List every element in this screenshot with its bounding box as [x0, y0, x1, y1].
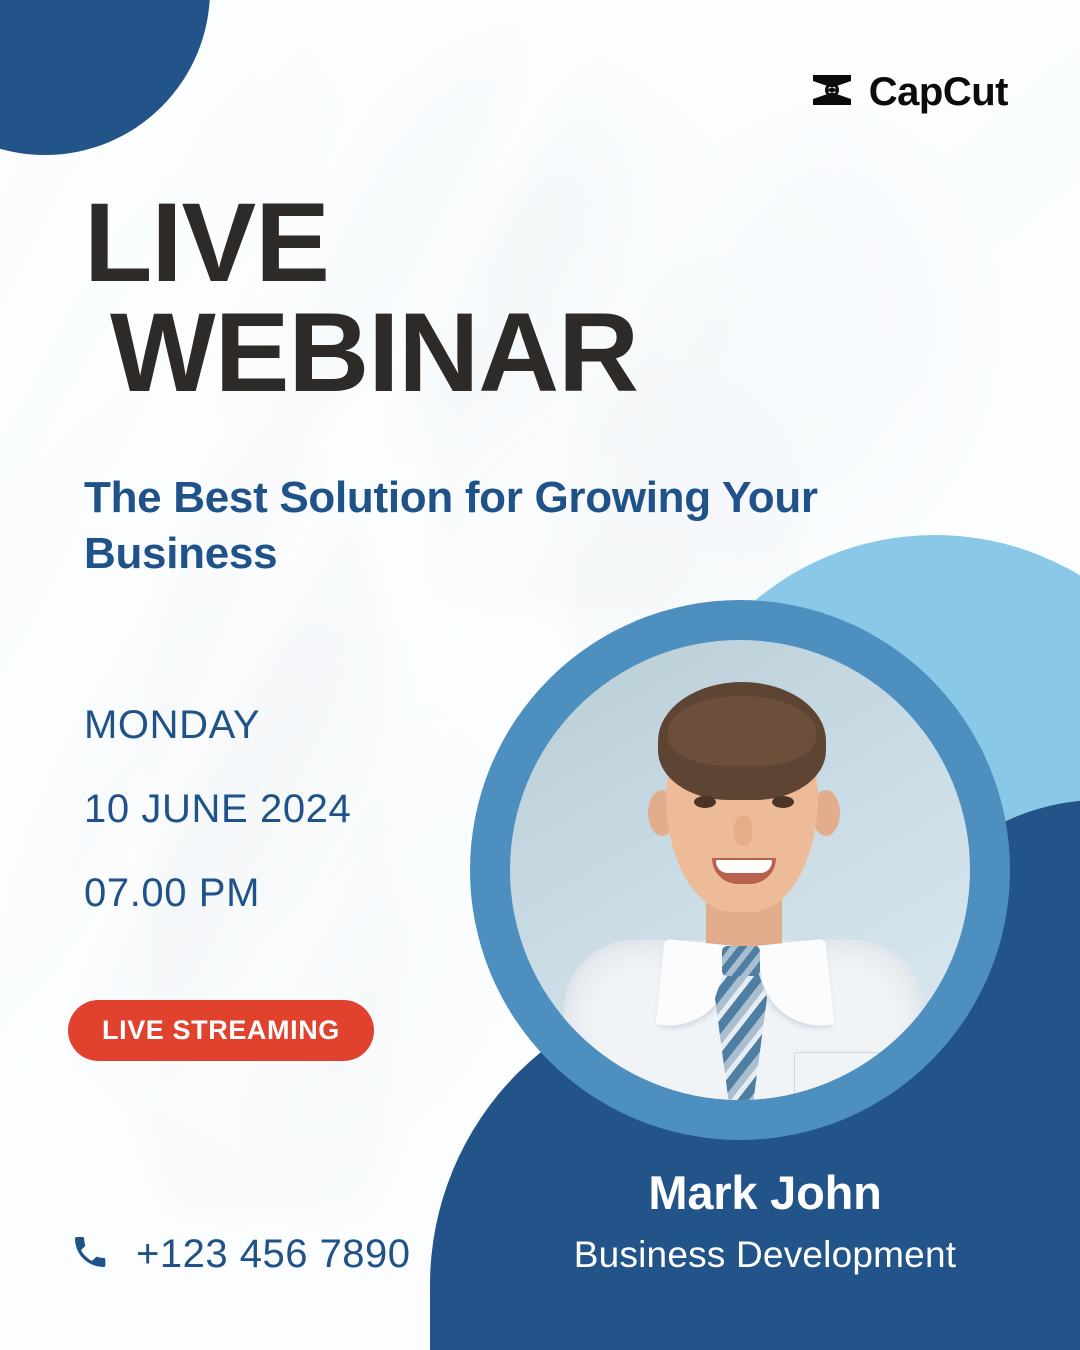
speaker-info: Mark John Business Development: [505, 1165, 1025, 1276]
webinar-poster: CapCut LIVE WEBINAR The Best Solution fo…: [0, 0, 1080, 1350]
portrait-shirt-pocket: [794, 1052, 880, 1100]
capcut-logo: CapCut: [809, 70, 1008, 115]
portrait-eye-right: [772, 796, 794, 808]
event-date: 10 JUNE 2024: [84, 789, 351, 829]
speaker-portrait-photo: [510, 640, 970, 1100]
headline-line-2: WEBINAR: [110, 298, 804, 408]
contact-phone[interactable]: +123 456 7890: [70, 1232, 411, 1277]
phone-icon: [70, 1232, 110, 1277]
capcut-logo-text: CapCut: [869, 70, 1008, 115]
portrait-necktie-knot: [722, 946, 760, 976]
event-day: MONDAY: [84, 705, 351, 745]
speaker-role: Business Development: [505, 1234, 1025, 1276]
capcut-bowtie-icon: [809, 72, 855, 113]
portrait-hair: [658, 682, 826, 800]
portrait-eye-left: [694, 796, 716, 808]
headline: LIVE WEBINAR: [84, 188, 804, 408]
headline-line-1: LIVE: [84, 188, 804, 298]
event-datetime: MONDAY 10 JUNE 2024 07.00 PM: [84, 705, 351, 957]
speaker-portrait-ring: [470, 600, 1010, 1140]
speaker-name: Mark John: [505, 1165, 1025, 1220]
live-streaming-badge[interactable]: LIVE STREAMING: [68, 1000, 374, 1061]
portrait-teeth: [716, 860, 772, 873]
portrait-nose: [734, 816, 752, 846]
subtitle: The Best Solution for Growing Your Busin…: [84, 470, 844, 583]
event-time: 07.00 PM: [84, 873, 351, 913]
phone-number: +123 456 7890: [136, 1232, 411, 1277]
